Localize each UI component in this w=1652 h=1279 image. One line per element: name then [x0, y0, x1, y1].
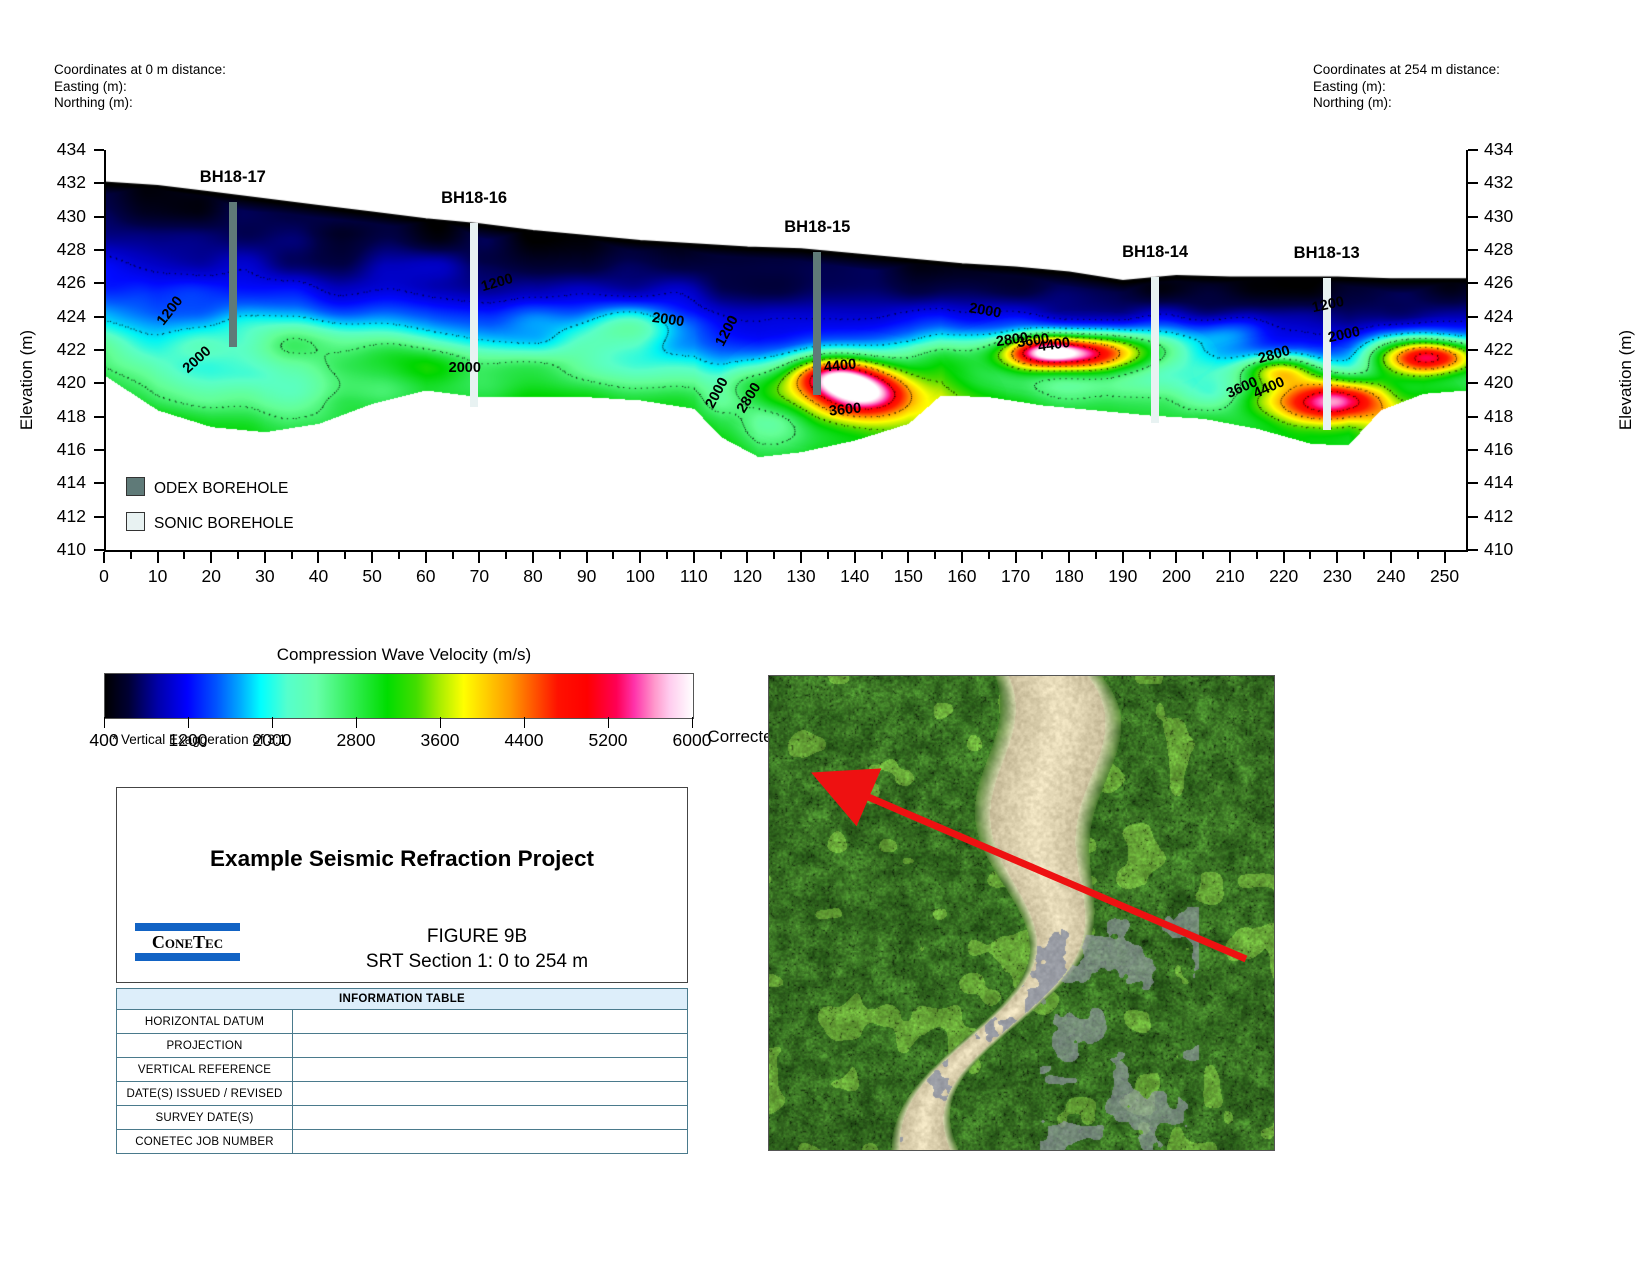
x-tick-minor	[612, 552, 614, 559]
y-tick-label-right: 430	[1484, 206, 1530, 227]
seismic-section-plot: Elevation (m) Elevation (m) Corrected Gr…	[0, 140, 1652, 620]
logo-text: ConeTec	[135, 931, 240, 953]
x-tick-label: 50	[349, 566, 395, 587]
coordinates-at-0m: Coordinates at 0 m distance: Easting (m)…	[54, 62, 226, 112]
borehole-stick-bh18-17	[229, 202, 237, 347]
x-tick-major	[1122, 552, 1124, 563]
colorbar-tick	[524, 717, 525, 728]
y-tick-label-left: 414	[40, 472, 86, 493]
x-tick-label: 40	[295, 566, 341, 587]
legend-row-odex-borehole: ODEX BOREHOLE	[126, 477, 288, 498]
y-tick-label-left: 418	[40, 406, 86, 427]
x-tick-major	[157, 552, 159, 563]
x-tick-minor	[666, 552, 668, 559]
y-tick-right	[1468, 382, 1478, 384]
x-tick-label: 200	[1153, 566, 1199, 587]
legend-swatch	[126, 512, 145, 531]
x-tick-label: 100	[617, 566, 663, 587]
information-table-value[interactable]	[293, 1010, 688, 1034]
x-tick-label: 220	[1261, 566, 1307, 587]
coordinates-at-254m: Coordinates at 254 m distance: Easting (…	[1313, 62, 1500, 112]
y-tick-label-right: 424	[1484, 306, 1530, 327]
information-table-row: DATE(S) ISSUED / REVISED	[117, 1082, 688, 1106]
y-tick-right	[1468, 349, 1478, 351]
y-tick-left	[94, 282, 104, 284]
information-table-key: DATE(S) ISSUED / REVISED	[117, 1082, 293, 1106]
x-tick-label: 10	[135, 566, 181, 587]
x-tick-minor	[452, 552, 454, 559]
information-table-row: PROJECTION	[117, 1034, 688, 1058]
x-tick-major	[1229, 552, 1231, 563]
x-tick-label: 130	[778, 566, 824, 587]
x-tick-major	[854, 552, 856, 563]
information-table-key: SURVEY DATE(S)	[117, 1106, 293, 1130]
x-tick-major	[1336, 552, 1338, 563]
x-tick-major	[800, 552, 802, 563]
y-tick-label-left: 410	[40, 539, 86, 560]
y-tick-label-left: 428	[40, 239, 86, 260]
information-table-key: PROJECTION	[117, 1034, 293, 1058]
x-tick-label: 120	[724, 566, 770, 587]
information-table-value[interactable]	[293, 1082, 688, 1106]
x-tick-minor	[183, 552, 185, 559]
x-tick-label: 20	[188, 566, 234, 587]
y-tick-right	[1468, 482, 1478, 484]
y-tick-label-left: 416	[40, 439, 86, 460]
figure-caption: FIGURE 9B SRT Section 1: 0 to 254 m	[267, 924, 687, 974]
colorbar-tick	[188, 717, 189, 728]
x-tick-label: 250	[1422, 566, 1468, 587]
y-tick-label-left: 432	[40, 172, 86, 193]
information-table-title: INFORMATION TABLE	[117, 989, 688, 1010]
y-tick-right	[1468, 149, 1478, 151]
x-tick-minor	[773, 552, 775, 559]
contour-label: 2000	[449, 360, 481, 376]
x-tick-minor	[1202, 552, 1204, 559]
borehole-label-bh18-17: BH18-17	[200, 168, 266, 187]
borehole-stick-bh18-14	[1151, 277, 1159, 424]
x-tick-major	[639, 552, 641, 563]
information-table-key: CONETEC JOB NUMBER	[117, 1130, 293, 1154]
information-table-row: HORIZONTAL DATUM	[117, 1010, 688, 1034]
x-tick-major	[1068, 552, 1070, 563]
x-tick-minor	[344, 552, 346, 559]
y-axis-label-right: Elevation (m)	[1616, 295, 1636, 465]
x-tick-label: 210	[1207, 566, 1253, 587]
information-table-value[interactable]	[293, 1034, 688, 1058]
x-tick-label: 0	[81, 566, 127, 587]
title-block: Example Seismic Refraction Project ConeT…	[116, 787, 688, 1154]
x-tick-major	[425, 552, 427, 563]
x-tick-label: 240	[1368, 566, 1414, 587]
y-tick-right	[1468, 216, 1478, 218]
x-tick-minor	[130, 552, 132, 559]
y-tick-left	[94, 249, 104, 251]
y-tick-left	[94, 416, 104, 418]
y-tick-right	[1468, 516, 1478, 518]
colorbar-tick-label: 400	[64, 730, 144, 751]
x-tick-minor	[934, 552, 936, 559]
x-tick-label: 180	[1046, 566, 1092, 587]
legend-swatch	[126, 477, 145, 496]
borehole-stick-bh18-15	[813, 252, 821, 395]
information-table: INFORMATION TABLE HORIZONTAL DATUMPROJEC…	[116, 988, 688, 1154]
x-tick-label: 90	[564, 566, 610, 587]
figure-subtitle: SRT Section 1: 0 to 254 m	[267, 949, 687, 974]
y-axis-line-left	[104, 150, 106, 550]
colorbar-tick-label: 3600	[400, 730, 480, 751]
colorbar-gradient	[104, 673, 694, 719]
x-tick-minor	[827, 552, 829, 559]
x-tick-minor	[237, 552, 239, 559]
y-tick-label-left: 412	[40, 506, 86, 527]
x-tick-minor	[881, 552, 883, 559]
information-table-value[interactable]	[293, 1106, 688, 1130]
borehole-stick-bh18-16	[470, 223, 478, 406]
y-tick-label-left: 422	[40, 339, 86, 360]
x-tick-major	[586, 552, 588, 563]
colorbar-tick	[272, 717, 273, 728]
x-tick-label: 30	[242, 566, 288, 587]
x-tick-minor	[1256, 552, 1258, 559]
y-axis-label-left: Elevation (m)	[17, 295, 37, 465]
y-tick-label-left: 434	[40, 139, 86, 160]
information-table-key: HORIZONTAL DATUM	[117, 1010, 293, 1034]
y-tick-label-right: 420	[1484, 372, 1530, 393]
borehole-label-bh18-15: BH18-15	[784, 218, 850, 237]
y-tick-right	[1468, 282, 1478, 284]
legend-label: ODEX BOREHOLE	[154, 480, 288, 497]
x-tick-major	[1390, 552, 1392, 563]
x-tick-minor	[720, 552, 722, 559]
x-tick-minor	[398, 552, 400, 559]
y-tick-right	[1468, 249, 1478, 251]
x-tick-label: 150	[885, 566, 931, 587]
legend-row-sonic-borehole: SONIC BOREHOLE	[126, 512, 294, 533]
y-tick-right	[1468, 416, 1478, 418]
y-tick-label-right: 414	[1484, 472, 1530, 493]
borehole-label-bh18-16: BH18-16	[441, 189, 507, 208]
y-tick-label-right: 416	[1484, 439, 1530, 460]
x-tick-major	[907, 552, 909, 563]
y-tick-label-left: 426	[40, 272, 86, 293]
information-table-row: SURVEY DATE(S)	[117, 1106, 688, 1130]
x-tick-label: 160	[939, 566, 985, 587]
y-tick-left	[94, 149, 104, 151]
y-tick-left	[94, 449, 104, 451]
colorbar-tick	[104, 717, 105, 728]
y-tick-label-right: 428	[1484, 239, 1530, 260]
x-axis-line	[104, 550, 1468, 552]
x-tick-major	[210, 552, 212, 563]
colorbar-tick-label: 5200	[568, 730, 648, 751]
x-tick-minor	[1095, 552, 1097, 559]
y-tick-right	[1468, 316, 1478, 318]
y-tick-left	[94, 516, 104, 518]
x-tick-minor	[291, 552, 293, 559]
x-tick-major	[1283, 552, 1285, 563]
y-tick-left	[94, 482, 104, 484]
aerial-photo	[768, 675, 1275, 1151]
x-tick-major	[103, 552, 105, 563]
x-tick-label: 70	[456, 566, 502, 587]
section-direction-arrow	[769, 676, 1274, 1150]
colorbar-tick-label: 6000	[652, 730, 732, 751]
y-tick-label-right: 412	[1484, 506, 1530, 527]
colorbar-tick	[692, 717, 693, 728]
legend-label: SONIC BOREHOLE	[154, 515, 294, 532]
colorbar-tick-label: 1200	[148, 730, 228, 751]
x-tick-label: 170	[993, 566, 1039, 587]
x-tick-minor	[1309, 552, 1311, 559]
information-table-body: HORIZONTAL DATUMPROJECTIONVERTICAL REFER…	[117, 1010, 688, 1154]
x-tick-minor	[988, 552, 990, 559]
y-tick-left	[94, 216, 104, 218]
y-tick-label-right: 418	[1484, 406, 1530, 427]
y-tick-left	[94, 182, 104, 184]
title-block-upper: Example Seismic Refraction Project ConeT…	[116, 787, 688, 983]
x-tick-minor	[505, 552, 507, 559]
y-tick-right	[1468, 182, 1478, 184]
y-tick-label-left: 420	[40, 372, 86, 393]
x-tick-label: 190	[1100, 566, 1146, 587]
x-tick-major	[1175, 552, 1177, 563]
logo-bar-top	[135, 923, 240, 931]
information-table-header-row: INFORMATION TABLE	[117, 989, 688, 1010]
colorbar-tick-label: 2800	[316, 730, 396, 751]
x-tick-minor	[559, 552, 561, 559]
x-tick-label: 230	[1314, 566, 1360, 587]
conetec-logo: ConeTec	[135, 923, 240, 961]
x-tick-minor	[1149, 552, 1151, 559]
x-tick-major	[746, 552, 748, 563]
information-table-key: VERTICAL REFERENCE	[117, 1058, 293, 1082]
logo-bar-bottom	[135, 953, 240, 961]
y-tick-left	[94, 316, 104, 318]
x-tick-major	[317, 552, 319, 563]
information-table-value[interactable]	[293, 1130, 688, 1154]
x-tick-minor	[1417, 552, 1419, 559]
y-tick-label-right: 422	[1484, 339, 1530, 360]
y-tick-left	[94, 549, 104, 551]
x-tick-major	[1015, 552, 1017, 563]
y-tick-left	[94, 349, 104, 351]
x-tick-major	[264, 552, 266, 563]
x-tick-major	[478, 552, 480, 563]
x-tick-major	[532, 552, 534, 563]
y-tick-label-left: 430	[40, 206, 86, 227]
y-tick-right	[1468, 549, 1478, 551]
y-tick-label-right: 410	[1484, 539, 1530, 560]
project-title: Example Seismic Refraction Project	[117, 846, 687, 872]
borehole-label-bh18-13: BH18-13	[1294, 244, 1360, 263]
x-tick-major	[961, 552, 963, 563]
figure-number: FIGURE 9B	[267, 924, 687, 949]
information-table-row: CONETEC JOB NUMBER	[117, 1130, 688, 1154]
y-tick-label-right: 434	[1484, 139, 1530, 160]
colorbar-tick	[608, 717, 609, 728]
x-tick-major	[693, 552, 695, 563]
y-tick-left	[94, 382, 104, 384]
x-tick-label: 110	[671, 566, 717, 587]
contour-label: 3600	[829, 400, 863, 419]
y-tick-label-right: 426	[1484, 272, 1530, 293]
colorbar-tick	[356, 717, 357, 728]
borehole-label-bh18-14: BH18-14	[1122, 243, 1188, 262]
information-table-row: VERTICAL REFERENCE	[117, 1058, 688, 1082]
x-tick-label: 60	[403, 566, 449, 587]
y-tick-right	[1468, 449, 1478, 451]
x-tick-minor	[1363, 552, 1365, 559]
colorbar-tick-label: 4400	[484, 730, 564, 751]
y-tick-label-left: 424	[40, 306, 86, 327]
colorbar-tick-label: 2000	[232, 730, 312, 751]
x-tick-major	[371, 552, 373, 563]
x-tick-label: 80	[510, 566, 556, 587]
colorbar-tick	[440, 717, 441, 728]
colorbar-title: Compression Wave Velocity (m/s)	[104, 645, 704, 665]
x-tick-major	[1444, 552, 1446, 563]
y-tick-label-right: 432	[1484, 172, 1530, 193]
x-tick-label: 140	[832, 566, 878, 587]
x-tick-minor	[1041, 552, 1043, 559]
information-table-value[interactable]	[293, 1058, 688, 1082]
